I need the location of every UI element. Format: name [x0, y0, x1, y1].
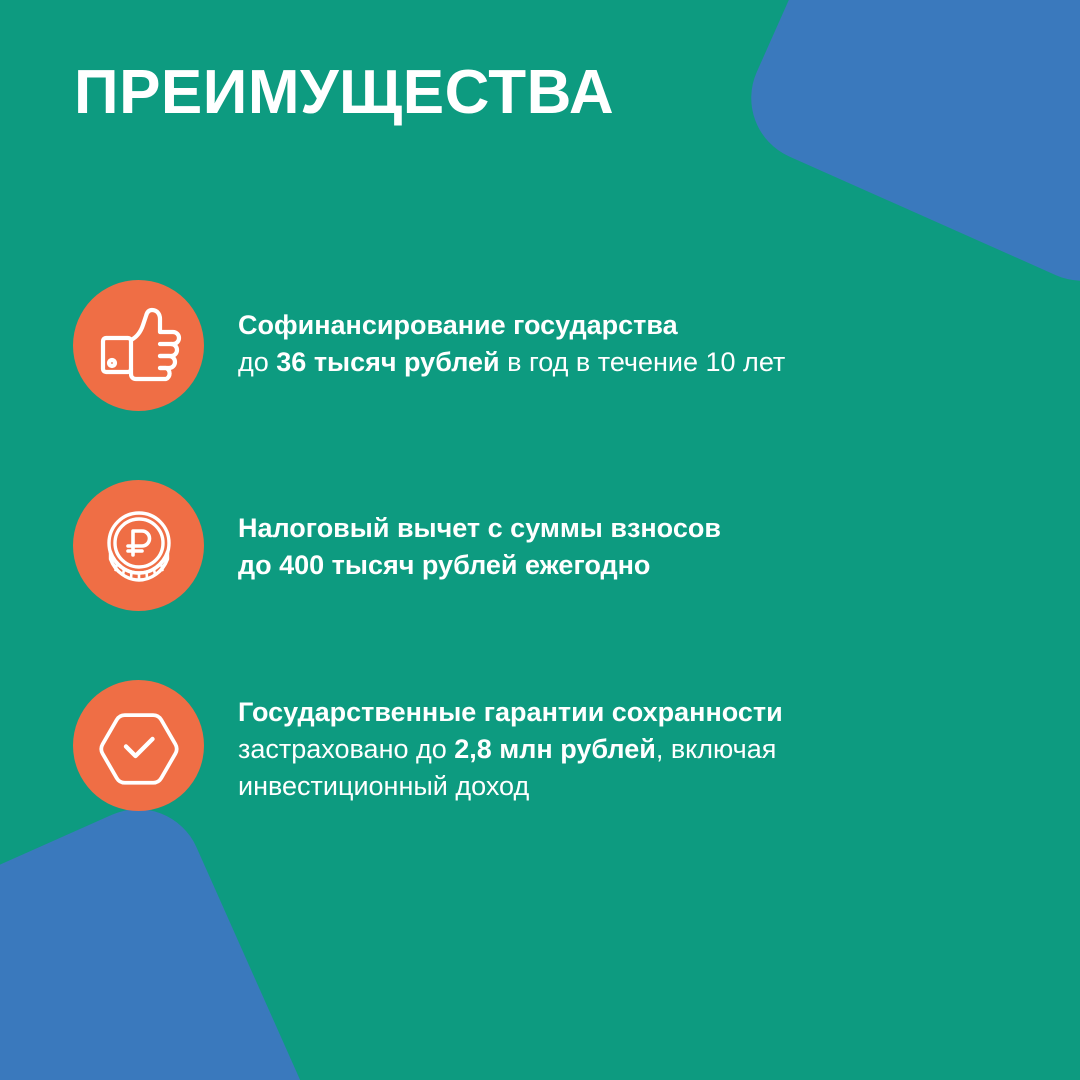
- feature-list: Софинансирование государства до 36 тысяч…: [0, 280, 1080, 811]
- feature-item-cofinancing: Софинансирование государства до 36 тысяч…: [0, 280, 1080, 411]
- feature-item-tax-deduction: Налоговый вычет с суммы взносов до 400 т…: [0, 480, 1080, 611]
- feature-heading: Налоговый вычет с суммы взносов: [238, 510, 1080, 547]
- subline-prefix: до: [238, 347, 276, 377]
- subline-suffix: , включая: [656, 734, 777, 764]
- feature-item-state-guarantees: Государственные гарантии сохранности зас…: [0, 680, 1080, 811]
- ruble-coin-icon: [73, 480, 204, 611]
- hexagon-check-icon: [73, 680, 204, 811]
- page-title: ПРЕИМУЩЕСТВА: [74, 60, 614, 125]
- feature-subline: застраховано до 2,8 млн рублей, включая: [238, 731, 1080, 768]
- subline-bold: 2,8 млн рублей: [454, 734, 656, 764]
- decor-bottom-left-shape: [0, 789, 341, 1080]
- feature-text-state-guarantees: Государственные гарантии сохранности зас…: [204, 680, 1080, 805]
- subline-bold: 36 тысяч рублей: [276, 347, 499, 377]
- subline-prefix: застраховано до: [238, 734, 454, 764]
- feature-third-line: инвестиционный доход: [238, 768, 1080, 805]
- subline-suffix: в год в течение 10 лет: [500, 347, 786, 377]
- slide-root: ПРЕИМУЩЕСТВА Софинансирование государст: [0, 0, 1080, 1080]
- feature-text-tax-deduction: Налоговый вычет с суммы взносов до 400 т…: [204, 480, 1080, 584]
- thumbs-up-icon: [73, 280, 204, 411]
- decor-top-right-shape: [731, 0, 1080, 301]
- feature-heading: Софинансирование государства: [238, 307, 1080, 344]
- feature-subline: до 36 тысяч рублей в год в течение 10 ле…: [238, 344, 1080, 381]
- feature-subline: до 400 тысяч рублей ежегодно: [238, 547, 1080, 584]
- feature-text-cofinancing: Софинансирование государства до 36 тысяч…: [204, 280, 1080, 381]
- feature-heading: Государственные гарантии сохранности: [238, 694, 1080, 731]
